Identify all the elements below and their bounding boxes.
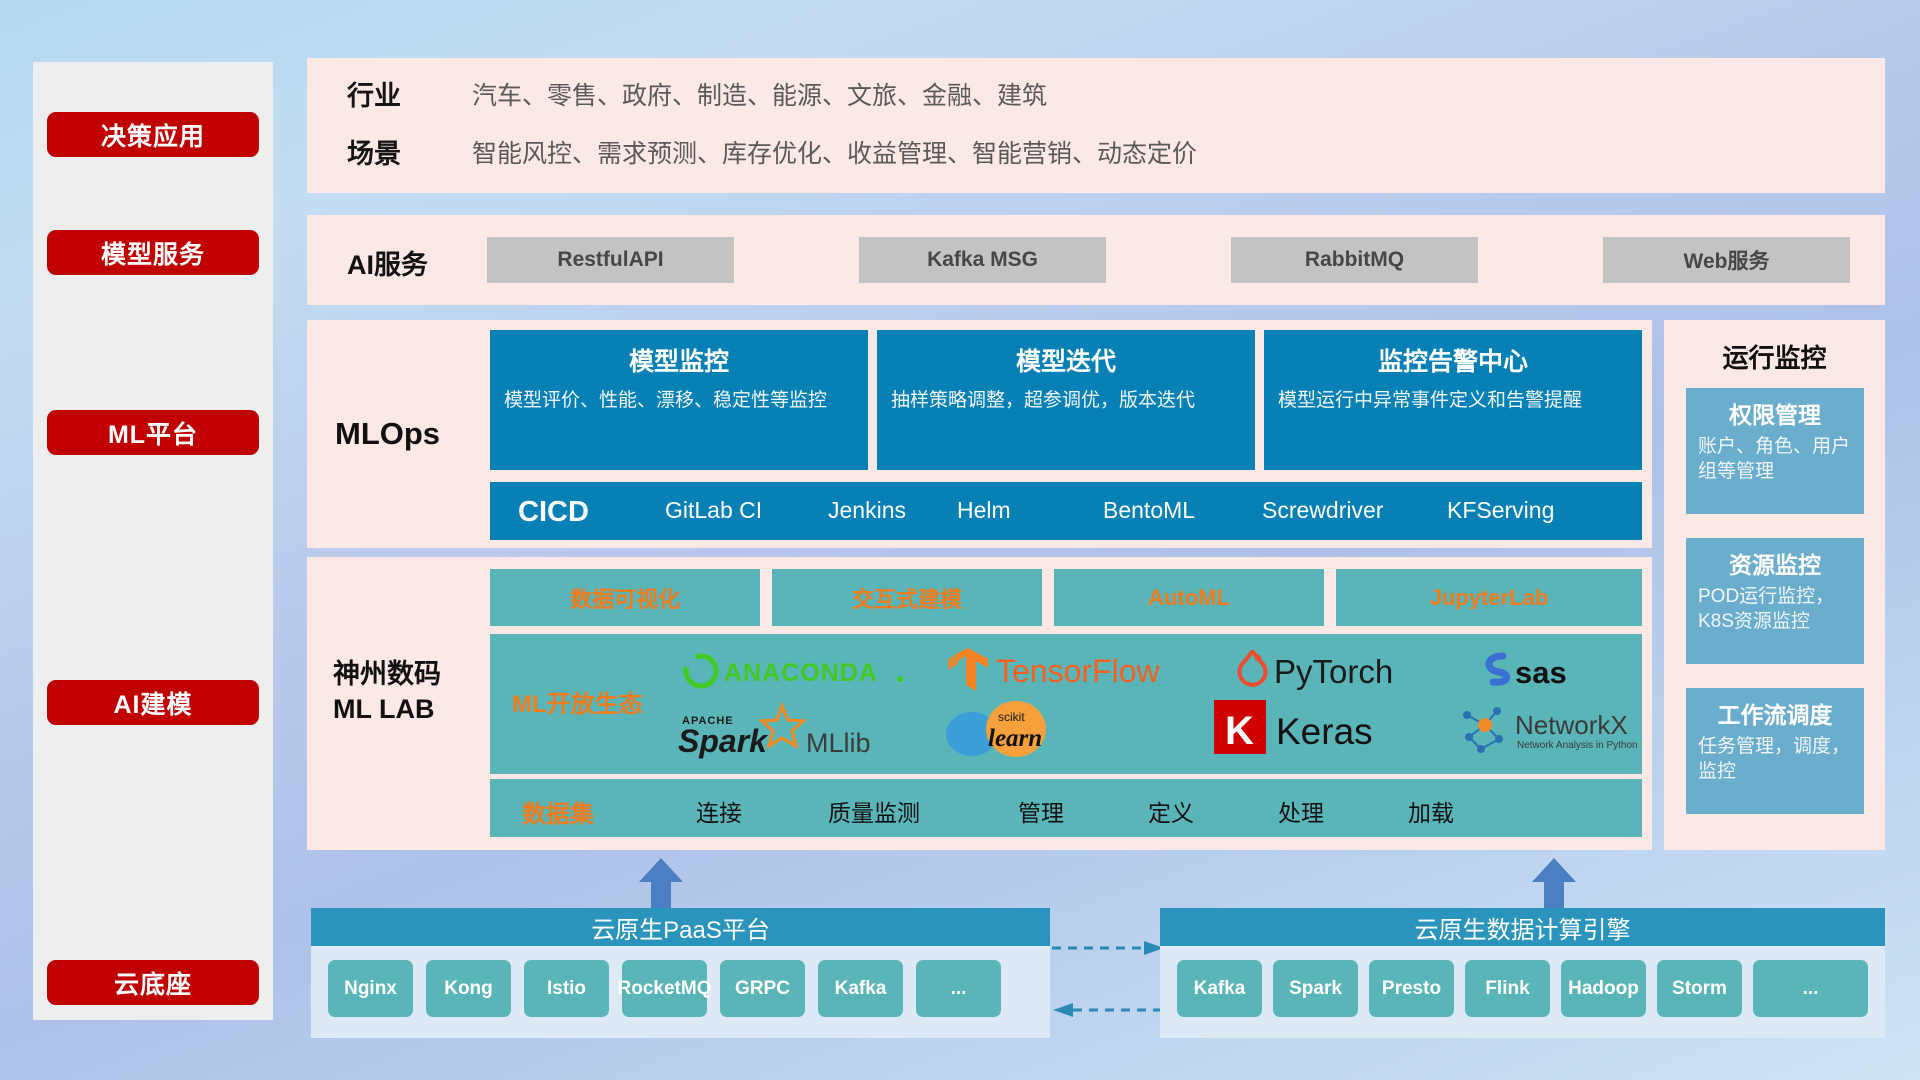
paas-chip-grpc[interactable]: GRPC [720,960,805,1017]
card-title: 权限管理 [1698,396,1852,430]
ml-ecosystem-label: ML开放生态 [512,684,643,719]
svg-text:Keras: Keras [1276,711,1373,752]
svg-text:Spark: Spark [678,723,769,759]
dataset-bar: 数据集 连接 质量监测 管理 定义 处理 加载 [490,779,1642,837]
card-desc: 模型评价、性能、漂移、稳定性等监控 [504,388,854,414]
ai-service-item-restfulapi[interactable]: RestfulAPI [487,237,734,283]
data-engine-platform: 云原生数据计算引擎 Kafka Spark Presto Flink Hadoo… [1160,908,1885,1038]
card-desc: POD运行监控，K8S资源监控 [1698,585,1852,634]
mlops-band: MLOps 模型监控 模型评价、性能、漂移、稳定性等监控 模型迭代 抽样策略调整… [307,320,1652,548]
monitoring-card-permission[interactable]: 权限管理 账户、角色、用户组等管理 [1686,388,1864,514]
svg-text:sas: sas [1515,655,1567,690]
monitoring-card-resource[interactable]: 资源监控 POD运行监控，K8S资源监控 [1686,538,1864,664]
mlops-card-model-monitoring[interactable]: 模型监控 模型评价、性能、漂移、稳定性等监控 [490,330,868,470]
paas-chip-kong[interactable]: Kong [426,960,511,1017]
engine-chip-kafka[interactable]: Kafka [1177,960,1262,1017]
ml-lab-band: 神州数码 ML LAB 数据可视化 交互式建模 AutoML JupyterLa… [307,557,1652,850]
card-title: 模型迭代 [891,342,1241,378]
card-desc: 模型运行中异常事件定义和告警提醒 [1278,388,1628,414]
mlops-card-model-iteration[interactable]: 模型迭代 抽样策略调整，超参调优，版本迭代 [877,330,1255,470]
ai-service-item-web-service[interactable]: Web服务 [1603,237,1850,283]
monitoring-card-workflow[interactable]: 工作流调度 任务管理，调度，监控 [1686,688,1864,814]
svg-text:ANACONDA: ANACONDA [724,659,878,687]
ai-service-label: AI服务 [347,243,428,282]
rail-item-decision-app[interactable]: 决策应用 [47,112,259,157]
industry-values: 汽车、零售、政府、制造、能源、文旅、金融、建筑 [472,76,1047,112]
layer-rail: 决策应用 模型服务 ML平台 AI建模 云底座 [33,62,273,1020]
dashed-arrow-left [1052,1002,1165,1018]
monitoring-title: 运行监控 [1664,338,1885,375]
logo-scikit-learn: scikit learn [930,696,1170,764]
ml-lab-title-cn: 神州数码 [333,659,441,689]
cicd-item-jenkins[interactable]: Jenkins [828,496,906,525]
cicd-item-kfserving[interactable]: KFServing [1447,496,1557,525]
engine-chip-storm[interactable]: Storm [1657,960,1742,1017]
paas-chip-rocketmq[interactable]: RocketMQ [622,960,707,1017]
up-arrow-data-engine [1529,858,1579,908]
card-title: 资源监控 [1698,546,1852,580]
mlops-card-alert-center[interactable]: 监控告警中心 模型运行中异常事件定义和告警提醒 [1264,330,1642,470]
ml-lab-title: 神州数码 ML LAB [333,657,441,726]
logo-tensorflow: TensorFlow [942,640,1212,700]
dataset-item-connect[interactable]: 连接 [696,794,742,828]
svg-text:TensorFlow: TensorFlow [996,653,1161,689]
ml-lab-tool-interactive-modeling[interactable]: 交互式建模 [772,569,1042,626]
svg-text:NetworkX: NetworkX [1515,710,1628,740]
cicd-label: CICD [518,494,648,530]
logo-pytorch: PyTorch [1232,640,1462,700]
paas-chip-nginx[interactable]: Nginx [328,960,413,1017]
ml-lab-tool-data-visualization[interactable]: 数据可视化 [490,569,760,626]
dataset-item-define[interactable]: 定义 [1148,794,1194,828]
industry-band: 行业 汽车、零售、政府、制造、能源、文旅、金融、建筑 场景 智能风控、需求预测、… [307,58,1885,193]
ml-ecosystem-panel: ML开放生态 ANACONDA TensorFlow [490,634,1642,774]
industry-label: 行业 [347,74,472,113]
engine-chip-flink[interactable]: Flink [1465,960,1550,1017]
card-desc: 账户、角色、用户组等管理 [1698,435,1852,484]
dataset-item-quality[interactable]: 质量监测 [828,794,920,828]
ai-service-item-kafka-msg[interactable]: Kafka MSG [859,237,1106,283]
paas-chip-kafka[interactable]: Kafka [818,960,903,1017]
cicd-item-screwdriver[interactable]: Screwdriver [1262,496,1382,525]
paas-platform: 云原生PaaS平台 Nginx Kong Istio RocketMQ GRPC… [311,908,1050,1038]
dashed-arrow-right [1052,940,1165,956]
logo-sas: sas [1475,642,1635,698]
card-desc: 抽样策略调整，超参调优，版本迭代 [891,388,1241,414]
svg-text:learn: learn [988,725,1042,752]
card-title: 工作流调度 [1698,696,1852,730]
architecture-diagram: 决策应用 模型服务 ML平台 AI建模 云底座 行业 汽车、零售、政府、制造、能… [0,0,1920,1080]
ml-lab-title-en: ML LAB [333,694,435,724]
rail-item-cloud-base[interactable]: 云底座 [47,960,259,1005]
logo-networkx: NetworkX Network Analysis in Python [1455,700,1685,762]
ai-service-item-rabbitmq[interactable]: RabbitMQ [1231,237,1478,283]
svg-text:Network Analysis in Python: Network Analysis in Python [1517,740,1638,751]
dataset-item-process[interactable]: 处理 [1278,794,1324,828]
svg-text:K: K [1225,709,1254,753]
dataset-item-load[interactable]: 加载 [1408,794,1454,828]
dataset-item-manage[interactable]: 管理 [1018,794,1064,828]
data-engine-title: 云原生数据计算引擎 [1160,908,1885,946]
cicd-item-bentoml[interactable]: BentoML [1103,496,1195,525]
svg-text:MLlib: MLlib [806,728,871,758]
logo-keras: K Keras [1210,696,1460,758]
scenario-label: 场景 [347,132,472,171]
svg-text:PyTorch: PyTorch [1274,653,1393,690]
rail-item-ai-modeling[interactable]: AI建模 [47,680,259,725]
mlops-label: MLOps [335,416,440,452]
logo-anaconda: ANACONDA [678,642,908,700]
engine-chip-hadoop[interactable]: Hadoop [1561,960,1646,1017]
scenario-values: 智能风控、需求预测、库存优化、收益管理、智能营销、动态定价 [472,134,1197,170]
engine-chip-more[interactable]: ... [1753,960,1868,1017]
paas-platform-title: 云原生PaaS平台 [311,908,1050,946]
card-desc: 任务管理，调度，监控 [1698,735,1852,784]
engine-chip-presto[interactable]: Presto [1369,960,1454,1017]
logo-spark-mllib: APACHE Spark MLlib [672,700,912,764]
cicd-bar: CICD GitLab CI Jenkins Helm BentoML Scre… [490,482,1642,540]
monitoring-panel: 运行监控 权限管理 账户、角色、用户组等管理 资源监控 POD运行监控，K8S资… [1664,320,1885,850]
dataset-label: 数据集 [522,794,594,829]
ml-lab-tool-jupyterlab[interactable]: JupyterLab [1336,569,1642,626]
cicd-item-helm[interactable]: Helm [957,496,1067,525]
engine-chip-spark[interactable]: Spark [1273,960,1358,1017]
svg-text:scikit: scikit [998,710,1025,724]
up-arrow-paas [636,858,686,908]
rail-item-ml-platform[interactable]: ML平台 [47,410,259,455]
ml-lab-tool-automl[interactable]: AutoML [1054,569,1324,626]
paas-chip-more[interactable]: ... [916,960,1001,1017]
ai-service-band: AI服务 RestfulAPI Kafka MSG RabbitMQ Web服务 [307,215,1885,305]
cicd-item-gitlab-ci[interactable]: GitLab CI [665,496,795,525]
rail-item-model-service[interactable]: 模型服务 [47,230,259,275]
card-title: 模型监控 [504,342,854,378]
paas-chip-istio[interactable]: Istio [524,960,609,1017]
card-title: 监控告警中心 [1278,342,1628,378]
